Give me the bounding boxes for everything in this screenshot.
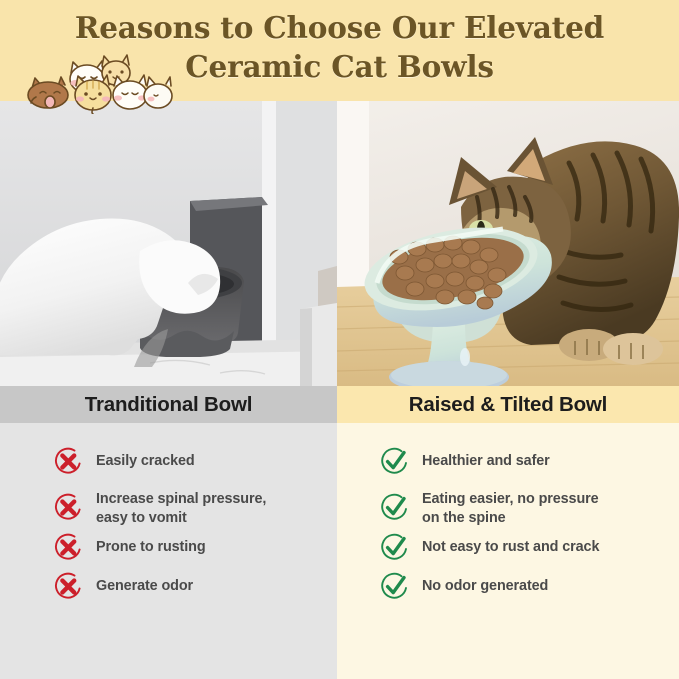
check-circle-icon [380,572,409,601]
comparison-labels: Tranditional Bowl Raised & Tilted Bowl [0,386,679,423]
cross-circle-icon [54,447,83,476]
check-circle-icon [380,447,409,476]
list-item: Generate odor [0,576,337,601]
list-item-label: Not easy to rust and crack [422,537,599,557]
list-item: Eating easier, no pressure on the spine [337,490,679,528]
cross-circle-icon [54,533,83,562]
raised-tilted-bowl-pros-list: Healthier and safer Eating easier, no pr… [337,423,679,679]
list-item: No odor generated [337,576,679,601]
comparison-photos [0,101,679,386]
list-item-label-line-2: on the spine [422,510,506,526]
raised-tilted-bowl-photo [337,101,679,386]
cross-circle-icon [54,572,83,601]
list-item-label: Increase spinal pressure, easy to vomit [96,490,266,528]
list-item-label: No odor generated [422,576,548,596]
page-title-line-1: Reasons to Choose Our Elevated [0,8,679,47]
list-item-label: Prone to rusting [96,537,206,557]
cross-circle-icon [54,493,83,522]
infographic-page: Reasons to Choose Our Elevated Ceramic C… [0,0,679,679]
list-item-label: Eating easier, no pressure on the spine [422,490,599,528]
check-circle-icon [380,493,409,522]
list-item: Easily cracked [0,451,337,476]
check-circle-icon [380,533,409,562]
traditional-bowl-photo [0,101,337,386]
list-item: Prone to rusting [0,537,337,562]
comparison-lists: Easily cracked Increase spinal pressure,… [0,423,679,679]
list-item-label: Easily cracked [96,451,195,471]
list-item-label-line-1: Eating easier, no pressure [422,491,599,507]
list-item-label-line-1: Increase spinal pressure, [96,491,266,507]
list-item-label: Generate odor [96,576,193,596]
traditional-bowl-label: Tranditional Bowl [0,386,337,423]
raised-tilted-bowl-label: Raised & Tilted Bowl [337,386,679,423]
raised-tilted-bowl-label-text: Raised & Tilted Bowl [409,393,607,417]
traditional-bowl-label-text: Tranditional Bowl [85,393,252,417]
traditional-bowl-cons-list: Easily cracked Increase spinal pressure,… [0,423,337,679]
list-item: Increase spinal pressure, easy to vomit [0,490,337,528]
cat-cluster-icon [14,52,174,112]
list-item-label-line-2: easy to vomit [96,510,187,526]
list-item: Healthier and safer [337,451,679,476]
list-item: Not easy to rust and crack [337,537,679,562]
list-item-label: Healthier and safer [422,451,550,471]
